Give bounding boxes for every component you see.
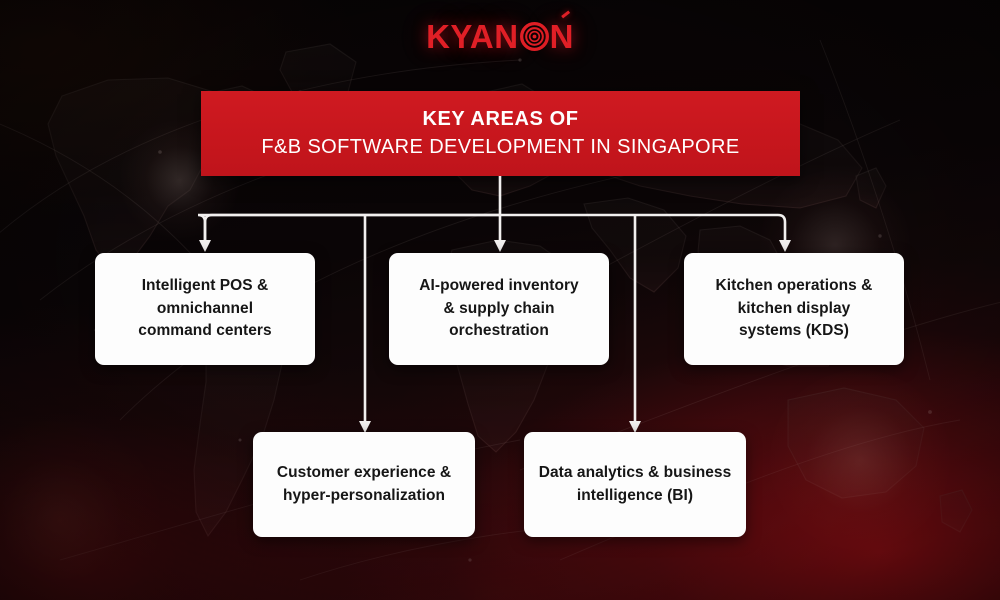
card-kitchen-operations[interactable]: Kitchen operations & kitchen display sys… (684, 253, 904, 365)
card-label: AI-powered inventory & supply chain orch… (419, 275, 578, 342)
card-label: Intelligent POS & omnichannel command ce… (138, 275, 271, 342)
card-line: kitchen display (738, 300, 851, 317)
card-line: & supply chain (444, 300, 555, 317)
card-line: omnichannel (157, 300, 253, 317)
kyanon-logo: KYAN N (0, 20, 1000, 62)
banner-title-line-1: KEY AREAS OF (422, 106, 578, 132)
infographic-canvas: KYAN N KEY AREAS OF F&B SOFTWARE DEVELOP… (0, 0, 1000, 600)
card-line: systems (KDS) (739, 322, 849, 339)
card-label: Customer experience & hyper-personalizat… (277, 462, 451, 507)
card-label: Kitchen operations & kitchen display sys… (716, 275, 873, 342)
card-line: AI-powered inventory (419, 277, 578, 294)
card-line: Intelligent POS & (142, 277, 269, 294)
card-ai-inventory[interactable]: AI-powered inventory & supply chain orch… (389, 253, 609, 365)
logo-wordmark: KYAN N (426, 20, 574, 53)
logo-text-part-2: N (550, 20, 574, 53)
card-line: Kitchen operations & (716, 277, 873, 294)
card-data-analytics[interactable]: Data analytics & business intelligence (… (524, 432, 746, 537)
logo-text-part-1: KYAN (426, 20, 518, 53)
card-line: command centers (138, 322, 271, 339)
card-label: Data analytics & business intelligence (… (539, 462, 732, 507)
card-customer-experience[interactable]: Customer experience & hyper-personalizat… (253, 432, 475, 537)
banner-title-line-2: F&B SOFTWARE DEVELOPMENT IN SINGAPORE (261, 134, 739, 161)
card-intelligent-pos[interactable]: Intelligent POS & omnichannel command ce… (95, 253, 315, 365)
card-line: Customer experience & (277, 464, 451, 481)
spiral-target-o-icon (520, 22, 549, 51)
card-line: intelligence (BI) (577, 487, 693, 504)
card-line: Data analytics & business (539, 464, 732, 481)
card-line: orchestration (449, 322, 549, 339)
header-banner: KEY AREAS OF F&B SOFTWARE DEVELOPMENT IN… (201, 91, 800, 176)
card-line: hyper-personalization (283, 487, 445, 504)
